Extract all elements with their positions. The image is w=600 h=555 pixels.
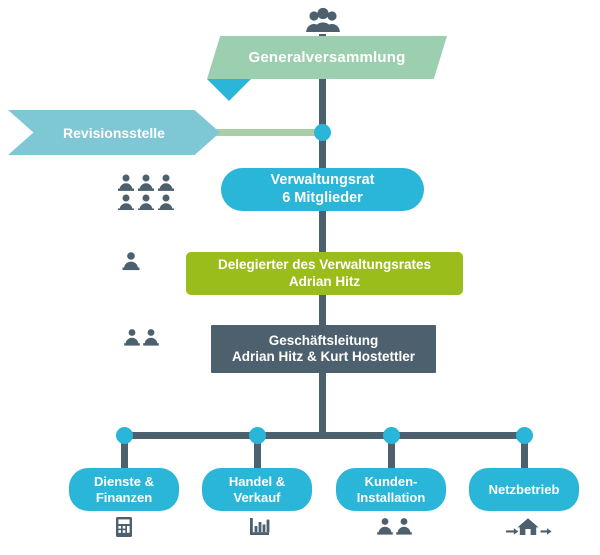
node-revisionsstelle[interactable]: Revisionsstelle bbox=[8, 110, 220, 155]
junction-dot-audit bbox=[314, 124, 331, 141]
node-dienste-finanzen-label-line2: Finanzen bbox=[96, 490, 152, 506]
node-netzbetrieb[interactable]: Netzbetrieb bbox=[469, 468, 579, 511]
node-netzbetrieb-label-line1: Netzbetrieb bbox=[489, 482, 560, 498]
node-generalversammlung[interactable]: Generalversammlung bbox=[207, 36, 447, 79]
node-geschaeftsleitung-label-line1: Geschäftsleitung bbox=[269, 333, 379, 349]
node-handel-verkauf-label-line2: Verkauf bbox=[234, 490, 281, 506]
node-verwaltungsrat-label-line2: 6 Mitglieder bbox=[282, 190, 363, 207]
organigramm-chart: Generalversammlung Revisionsstelle bbox=[0, 0, 600, 555]
node-delegierter[interactable]: Delegierter des Verwaltungsrates Adrian … bbox=[186, 252, 463, 295]
node-dienste-finanzen[interactable]: Dienste & Finanzen bbox=[69, 468, 179, 511]
node-verwaltungsrat[interactable]: Verwaltungsrat 6 Mitglieder bbox=[221, 168, 424, 211]
junction-dot-department-1 bbox=[116, 427, 133, 444]
two-people-icon bbox=[123, 327, 163, 349]
single-person-icon bbox=[120, 250, 142, 272]
node-handel-verkauf-label-line1: Handel & bbox=[229, 474, 285, 490]
two-people-icon bbox=[376, 516, 416, 538]
node-revisionsstelle-label: Revisionsstelle bbox=[63, 125, 165, 141]
house-network-icon bbox=[504, 515, 552, 539]
calculator-icon bbox=[113, 515, 135, 539]
node-kunden-installation[interactable]: Kunden- Installation bbox=[336, 468, 446, 511]
ribbon-fold-triangle bbox=[207, 79, 251, 101]
node-generalversammlung-label: Generalversammlung bbox=[249, 49, 406, 66]
junction-dot-department-3 bbox=[383, 427, 400, 444]
department-horizontal-connector bbox=[124, 432, 528, 439]
node-delegierter-label-line2: Adrian Hitz bbox=[289, 274, 360, 290]
group-of-three-people-icon bbox=[303, 6, 343, 36]
node-geschaeftsleitung[interactable]: Geschäftsleitung Adrian Hitz & Kurt Host… bbox=[211, 325, 436, 373]
node-delegierter-label-line1: Delegierter des Verwaltungsrates bbox=[218, 257, 431, 273]
junction-dot-department-4 bbox=[516, 427, 533, 444]
node-kunden-installation-label-line2: Installation bbox=[357, 490, 426, 506]
six-people-icon bbox=[117, 172, 175, 210]
node-handel-verkauf[interactable]: Handel & Verkauf bbox=[202, 468, 312, 511]
bar-chart-icon bbox=[248, 516, 272, 538]
node-geschaeftsleitung-label-line2: Adrian Hitz & Kurt Hostettler bbox=[232, 349, 415, 365]
node-verwaltungsrat-label-line1: Verwaltungsrat bbox=[271, 172, 375, 189]
junction-dot-department-2 bbox=[249, 427, 266, 444]
main-vertical-connector bbox=[319, 34, 326, 438]
node-dienste-finanzen-label-line1: Dienste & bbox=[94, 474, 154, 490]
node-kunden-installation-label-line1: Kunden- bbox=[365, 474, 418, 490]
